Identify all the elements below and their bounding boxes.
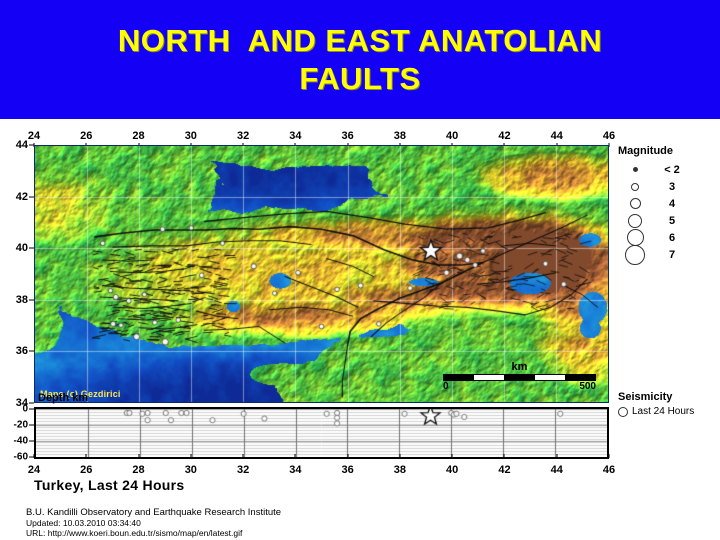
magnitude-legend-rows: < 234567 bbox=[618, 161, 714, 263]
depth-section-title: Depth km bbox=[38, 392, 88, 404]
magnitude-legend-label: 7 bbox=[652, 249, 692, 261]
longitude-tick-mark bbox=[504, 454, 505, 458]
longitude-tick-mark bbox=[609, 454, 610, 458]
longitude-tick-mark bbox=[556, 454, 557, 458]
longitude-tick-label: 28 bbox=[132, 464, 144, 476]
magnitude-circle-icon bbox=[618, 229, 652, 246]
latitude-tick-label: 44 bbox=[16, 139, 28, 151]
scalebar-segment bbox=[565, 375, 595, 380]
seismicity-figure: 242628303234363840424446 444240383634 Ma… bbox=[0, 119, 720, 540]
scalebar-min-label: 0 bbox=[443, 381, 449, 392]
longitude-tick-label: 46 bbox=[603, 130, 615, 142]
longitude-tick-label: 24 bbox=[28, 130, 40, 142]
relief-map[interactable]: Maps (c) Gezdirici km 0 500 bbox=[34, 145, 609, 403]
seismicity-legend: Seismicity Last 24 Hours bbox=[618, 391, 718, 417]
magnitude-legend-label: 6 bbox=[652, 232, 692, 244]
scalebar-segment bbox=[474, 375, 504, 380]
magnitude-legend-item: < 2 bbox=[618, 161, 714, 178]
footer-institute: B.U. Kandilli Observatory and Earthquake… bbox=[26, 507, 281, 518]
seismicity-legend-row: Last 24 Hours bbox=[618, 406, 718, 417]
footer-url: URL: http://www.koeri.boun.edu.tr/sismo/… bbox=[26, 528, 281, 538]
magnitude-legend-label: 5 bbox=[652, 215, 692, 227]
map-scalebar: km 0 500 bbox=[443, 361, 596, 393]
magnitude-circle-icon bbox=[618, 245, 652, 265]
map-longitude-axis-top: 242628303234363840424446 bbox=[34, 130, 609, 146]
depth-axis: 0-20-40-60 bbox=[6, 407, 34, 459]
depth-tick-label: -60 bbox=[14, 452, 28, 463]
longitude-tick-label: 36 bbox=[342, 464, 354, 476]
magnitude-legend-item: 4 bbox=[618, 195, 714, 212]
magnitude-legend-label: < 2 bbox=[652, 164, 692, 176]
longitude-tick-mark bbox=[347, 454, 348, 458]
scalebar-segment bbox=[535, 375, 565, 380]
seismicity-legend-title: Seismicity bbox=[618, 391, 718, 403]
magnitude-legend-label: 4 bbox=[652, 198, 692, 210]
depth-longitude-axis: 242628303234363840424446 bbox=[34, 459, 609, 475]
longitude-tick-label: 30 bbox=[185, 130, 197, 142]
longitude-tick-mark bbox=[399, 454, 400, 458]
longitude-tick-label: 30 bbox=[185, 464, 197, 476]
longitude-tick-label: 24 bbox=[28, 464, 40, 476]
latitude-tick-label: 36 bbox=[16, 345, 28, 357]
scalebar-segment bbox=[444, 375, 474, 380]
magnitude-legend-label: 3 bbox=[652, 181, 692, 193]
longitude-tick-label: 28 bbox=[132, 130, 144, 142]
longitude-tick-label: 26 bbox=[80, 130, 92, 142]
page-title-line-1: NORTH AND EAST ANATOLIAN bbox=[118, 22, 602, 60]
depth-tick-label: -40 bbox=[14, 436, 28, 447]
longitude-tick-mark bbox=[138, 454, 139, 458]
magnitude-circle-icon bbox=[618, 183, 652, 191]
footer: B.U. Kandilli Observatory and Earthquake… bbox=[26, 507, 281, 538]
longitude-tick-mark bbox=[452, 454, 453, 458]
longitude-tick-mark bbox=[295, 454, 296, 458]
magnitude-circle-icon bbox=[618, 214, 652, 228]
depth-tick-label: -20 bbox=[14, 420, 28, 431]
longitude-tick-label: 44 bbox=[551, 464, 563, 476]
longitude-tick-label: 42 bbox=[498, 130, 510, 142]
scalebar-endpoints: 0 500 bbox=[443, 381, 596, 393]
scalebar-track bbox=[443, 374, 596, 381]
open-circle-icon bbox=[618, 407, 628, 417]
scalebar-segment bbox=[504, 375, 534, 380]
longitude-tick-mark bbox=[243, 454, 244, 458]
longitude-tick-label: 26 bbox=[80, 464, 92, 476]
longitude-tick-mark bbox=[190, 454, 191, 458]
depth-cross-section[interactable] bbox=[34, 407, 609, 459]
magnitude-legend-item: 7 bbox=[618, 246, 714, 263]
scalebar-max-label: 500 bbox=[579, 381, 596, 392]
slide-root: NORTH AND EAST ANATOLIAN FAULTS 24262830… bbox=[0, 0, 720, 540]
magnitude-legend-title: Magnitude bbox=[618, 145, 714, 157]
longitude-tick-mark bbox=[34, 454, 35, 458]
footer-updated: Updated: 10.03.2010 03:34:40 bbox=[26, 518, 281, 528]
magnitude-circle-icon bbox=[618, 167, 652, 172]
longitude-tick-label: 40 bbox=[446, 464, 458, 476]
magnitude-legend-item: 3 bbox=[618, 178, 714, 195]
longitude-tick-label: 32 bbox=[237, 464, 249, 476]
longitude-tick-label: 32 bbox=[237, 130, 249, 142]
title-banner: NORTH AND EAST ANATOLIAN FAULTS bbox=[0, 0, 720, 119]
longitude-tick-label: 34 bbox=[289, 464, 301, 476]
depth-plot-canvas bbox=[36, 409, 607, 457]
longitude-tick-label: 36 bbox=[342, 130, 354, 142]
longitude-tick-label: 42 bbox=[498, 464, 510, 476]
figure-caption: Turkey, Last 24 Hours bbox=[34, 477, 185, 493]
latitude-tick-label: 38 bbox=[16, 294, 28, 306]
magnitude-legend: Magnitude < 234567 bbox=[618, 145, 714, 263]
longitude-tick-label: 38 bbox=[394, 464, 406, 476]
scalebar-unit-label: km bbox=[443, 361, 596, 373]
magnitude-legend-item: 5 bbox=[618, 212, 714, 229]
longitude-tick-label: 38 bbox=[394, 130, 406, 142]
longitude-tick-label: 34 bbox=[289, 130, 301, 142]
latitude-tick-label: 42 bbox=[16, 191, 28, 203]
page-title-line-2: FAULTS bbox=[299, 60, 420, 98]
longitude-tick-label: 46 bbox=[603, 464, 615, 476]
magnitude-legend-item: 6 bbox=[618, 229, 714, 246]
longitude-tick-label: 44 bbox=[551, 130, 563, 142]
magnitude-circle-icon bbox=[618, 198, 652, 209]
seismicity-legend-label: Last 24 Hours bbox=[632, 406, 694, 417]
depth-tick-label: 0 bbox=[22, 404, 28, 415]
longitude-tick-label: 40 bbox=[446, 130, 458, 142]
latitude-tick-label: 40 bbox=[16, 242, 28, 254]
map-latitude-axis: 444240383634 bbox=[8, 145, 34, 403]
longitude-tick-mark bbox=[86, 454, 87, 458]
